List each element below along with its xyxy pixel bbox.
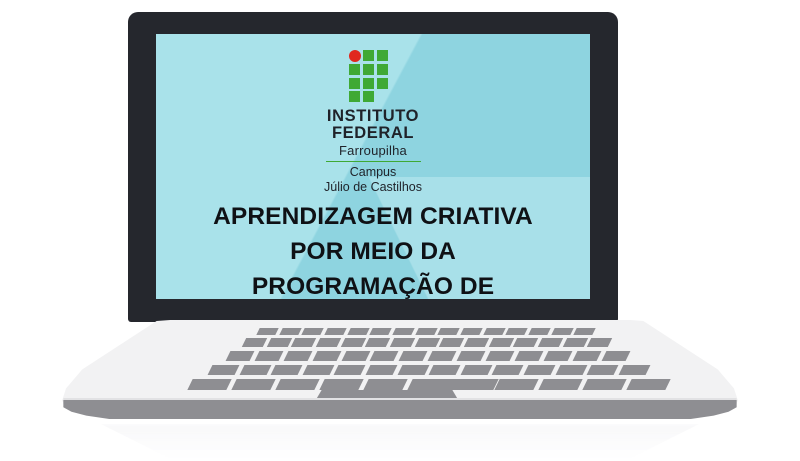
logo-cell-square <box>363 91 374 102</box>
keyboard-key <box>334 365 366 375</box>
keyboard-key <box>626 379 670 390</box>
keyboard-key <box>582 379 626 390</box>
keyboard-key <box>601 351 630 361</box>
keyboard-key <box>239 365 271 375</box>
slide-title-line-2: POR MEIO DA <box>156 235 590 270</box>
logo-cell-square <box>363 50 374 61</box>
logo-campus-label: Campus <box>324 165 422 180</box>
keyboard-key <box>242 338 267 347</box>
keyboard-key <box>231 379 275 390</box>
keyboard-key <box>483 328 505 335</box>
keyboard-key <box>340 338 365 347</box>
keyboard-key <box>492 365 524 375</box>
keyboard-key <box>283 351 312 361</box>
laptop-base <box>62 320 738 420</box>
keyboard-key <box>271 365 303 375</box>
keyboard-key <box>506 328 528 335</box>
keyboard-key <box>618 365 650 375</box>
logo-cell-square <box>349 64 360 75</box>
keyboard-key <box>187 379 231 390</box>
laptop-screen-lid: INSTITUTO FEDERAL Farroupilha Campus Júl… <box>128 12 618 322</box>
logo-line-federal: FEDERAL <box>324 125 422 142</box>
keyboard-key <box>514 351 543 361</box>
keyboard-key <box>392 328 414 335</box>
keyboard-key <box>324 328 346 335</box>
keyboard-key <box>562 338 587 347</box>
logo-cell-square <box>377 64 388 75</box>
slide-title-line-3: PROGRAMAÇÃO DE COMPUTADORES <box>156 270 590 299</box>
keyboard-key <box>428 351 457 361</box>
institution-logo: INSTITUTO FEDERAL Farroupilha Campus Júl… <box>156 50 590 195</box>
logo-cell-square <box>363 78 374 89</box>
keyboard-key <box>266 338 291 347</box>
laptop-illustration-scene: INSTITUTO FEDERAL Farroupilha Campus Júl… <box>0 0 800 461</box>
keyboard-key <box>366 365 398 375</box>
keyboard-key <box>291 338 316 347</box>
keyboard-key <box>390 338 415 347</box>
logo-cell-square <box>377 50 388 61</box>
keyboard-key <box>365 338 390 347</box>
keyboard-key <box>429 365 461 375</box>
keyboard-key <box>543 351 572 361</box>
keyboard-key <box>460 328 482 335</box>
keyboard-key <box>279 328 301 335</box>
keyboard-key <box>438 328 460 335</box>
logo-line-farroupilha: Farroupilha <box>324 144 422 157</box>
keyboard-key <box>341 351 370 361</box>
laptop-base-front-edge <box>62 400 738 419</box>
logo-cell-square <box>349 91 360 102</box>
keyboard-key <box>460 365 492 375</box>
keyboard-key <box>347 328 369 335</box>
keyboard-key <box>302 328 324 335</box>
keyboard-key <box>457 351 486 361</box>
keyboard-key <box>363 379 407 390</box>
keyboard-key <box>587 338 612 347</box>
keyboard-key <box>524 365 556 375</box>
slide-title: APRENDIZAGEM CRIATIVA POR MEIO DA PROGRA… <box>156 200 590 299</box>
slide-content: INSTITUTO FEDERAL Farroupilha Campus Júl… <box>156 34 590 299</box>
logo-divider <box>326 161 421 162</box>
institution-wordmark: INSTITUTO FEDERAL Farroupilha Campus Júl… <box>324 108 422 195</box>
keyboard-key <box>415 328 437 335</box>
keyboard-key <box>528 328 550 335</box>
keyboard-key <box>319 379 363 390</box>
keyboard-key <box>370 328 392 335</box>
keyboard-key <box>451 379 495 390</box>
keyboard-key <box>486 351 515 361</box>
keyboard-key <box>208 365 240 375</box>
keyboard-key <box>275 379 319 390</box>
logo-cell-square <box>349 78 360 89</box>
keyboard-key <box>551 328 573 335</box>
keyboard-key <box>399 351 428 361</box>
slide-title-line-1: APRENDIZAGEM CRIATIVA <box>156 200 590 235</box>
logo-cell-square <box>377 78 388 89</box>
keyboard-key <box>555 365 587 375</box>
logo-line-instituto: INSTITUTO <box>324 108 422 125</box>
keyboard-key <box>316 338 341 347</box>
keyboard-key <box>538 338 563 347</box>
keyboard-key <box>574 328 596 335</box>
logo-campus-name: Júlio de Castilhos <box>324 180 422 195</box>
keyboard-key <box>312 351 341 361</box>
keyboard-key <box>572 351 601 361</box>
keyboard-key <box>539 379 583 390</box>
logo-cell-circle <box>349 50 361 62</box>
keyboard-key <box>495 379 539 390</box>
instituto-federal-mark-icon <box>349 50 397 102</box>
keyboard-key <box>256 328 278 335</box>
keyboard-key <box>464 338 489 347</box>
keyboard-key <box>302 365 334 375</box>
keyboard-key <box>397 365 429 375</box>
logo-cell-square <box>363 64 374 75</box>
keyboard-key <box>370 351 399 361</box>
keyboard-key <box>488 338 513 347</box>
keyboard-key <box>587 365 619 375</box>
keyboard-key <box>439 338 464 347</box>
laptop-screen: INSTITUTO FEDERAL Farroupilha Campus Júl… <box>156 34 590 299</box>
keyboard-key <box>513 338 538 347</box>
laptop-reflection <box>60 424 740 458</box>
keyboard-key <box>414 338 439 347</box>
keyboard-key <box>254 351 283 361</box>
keyboard-key <box>226 351 255 361</box>
